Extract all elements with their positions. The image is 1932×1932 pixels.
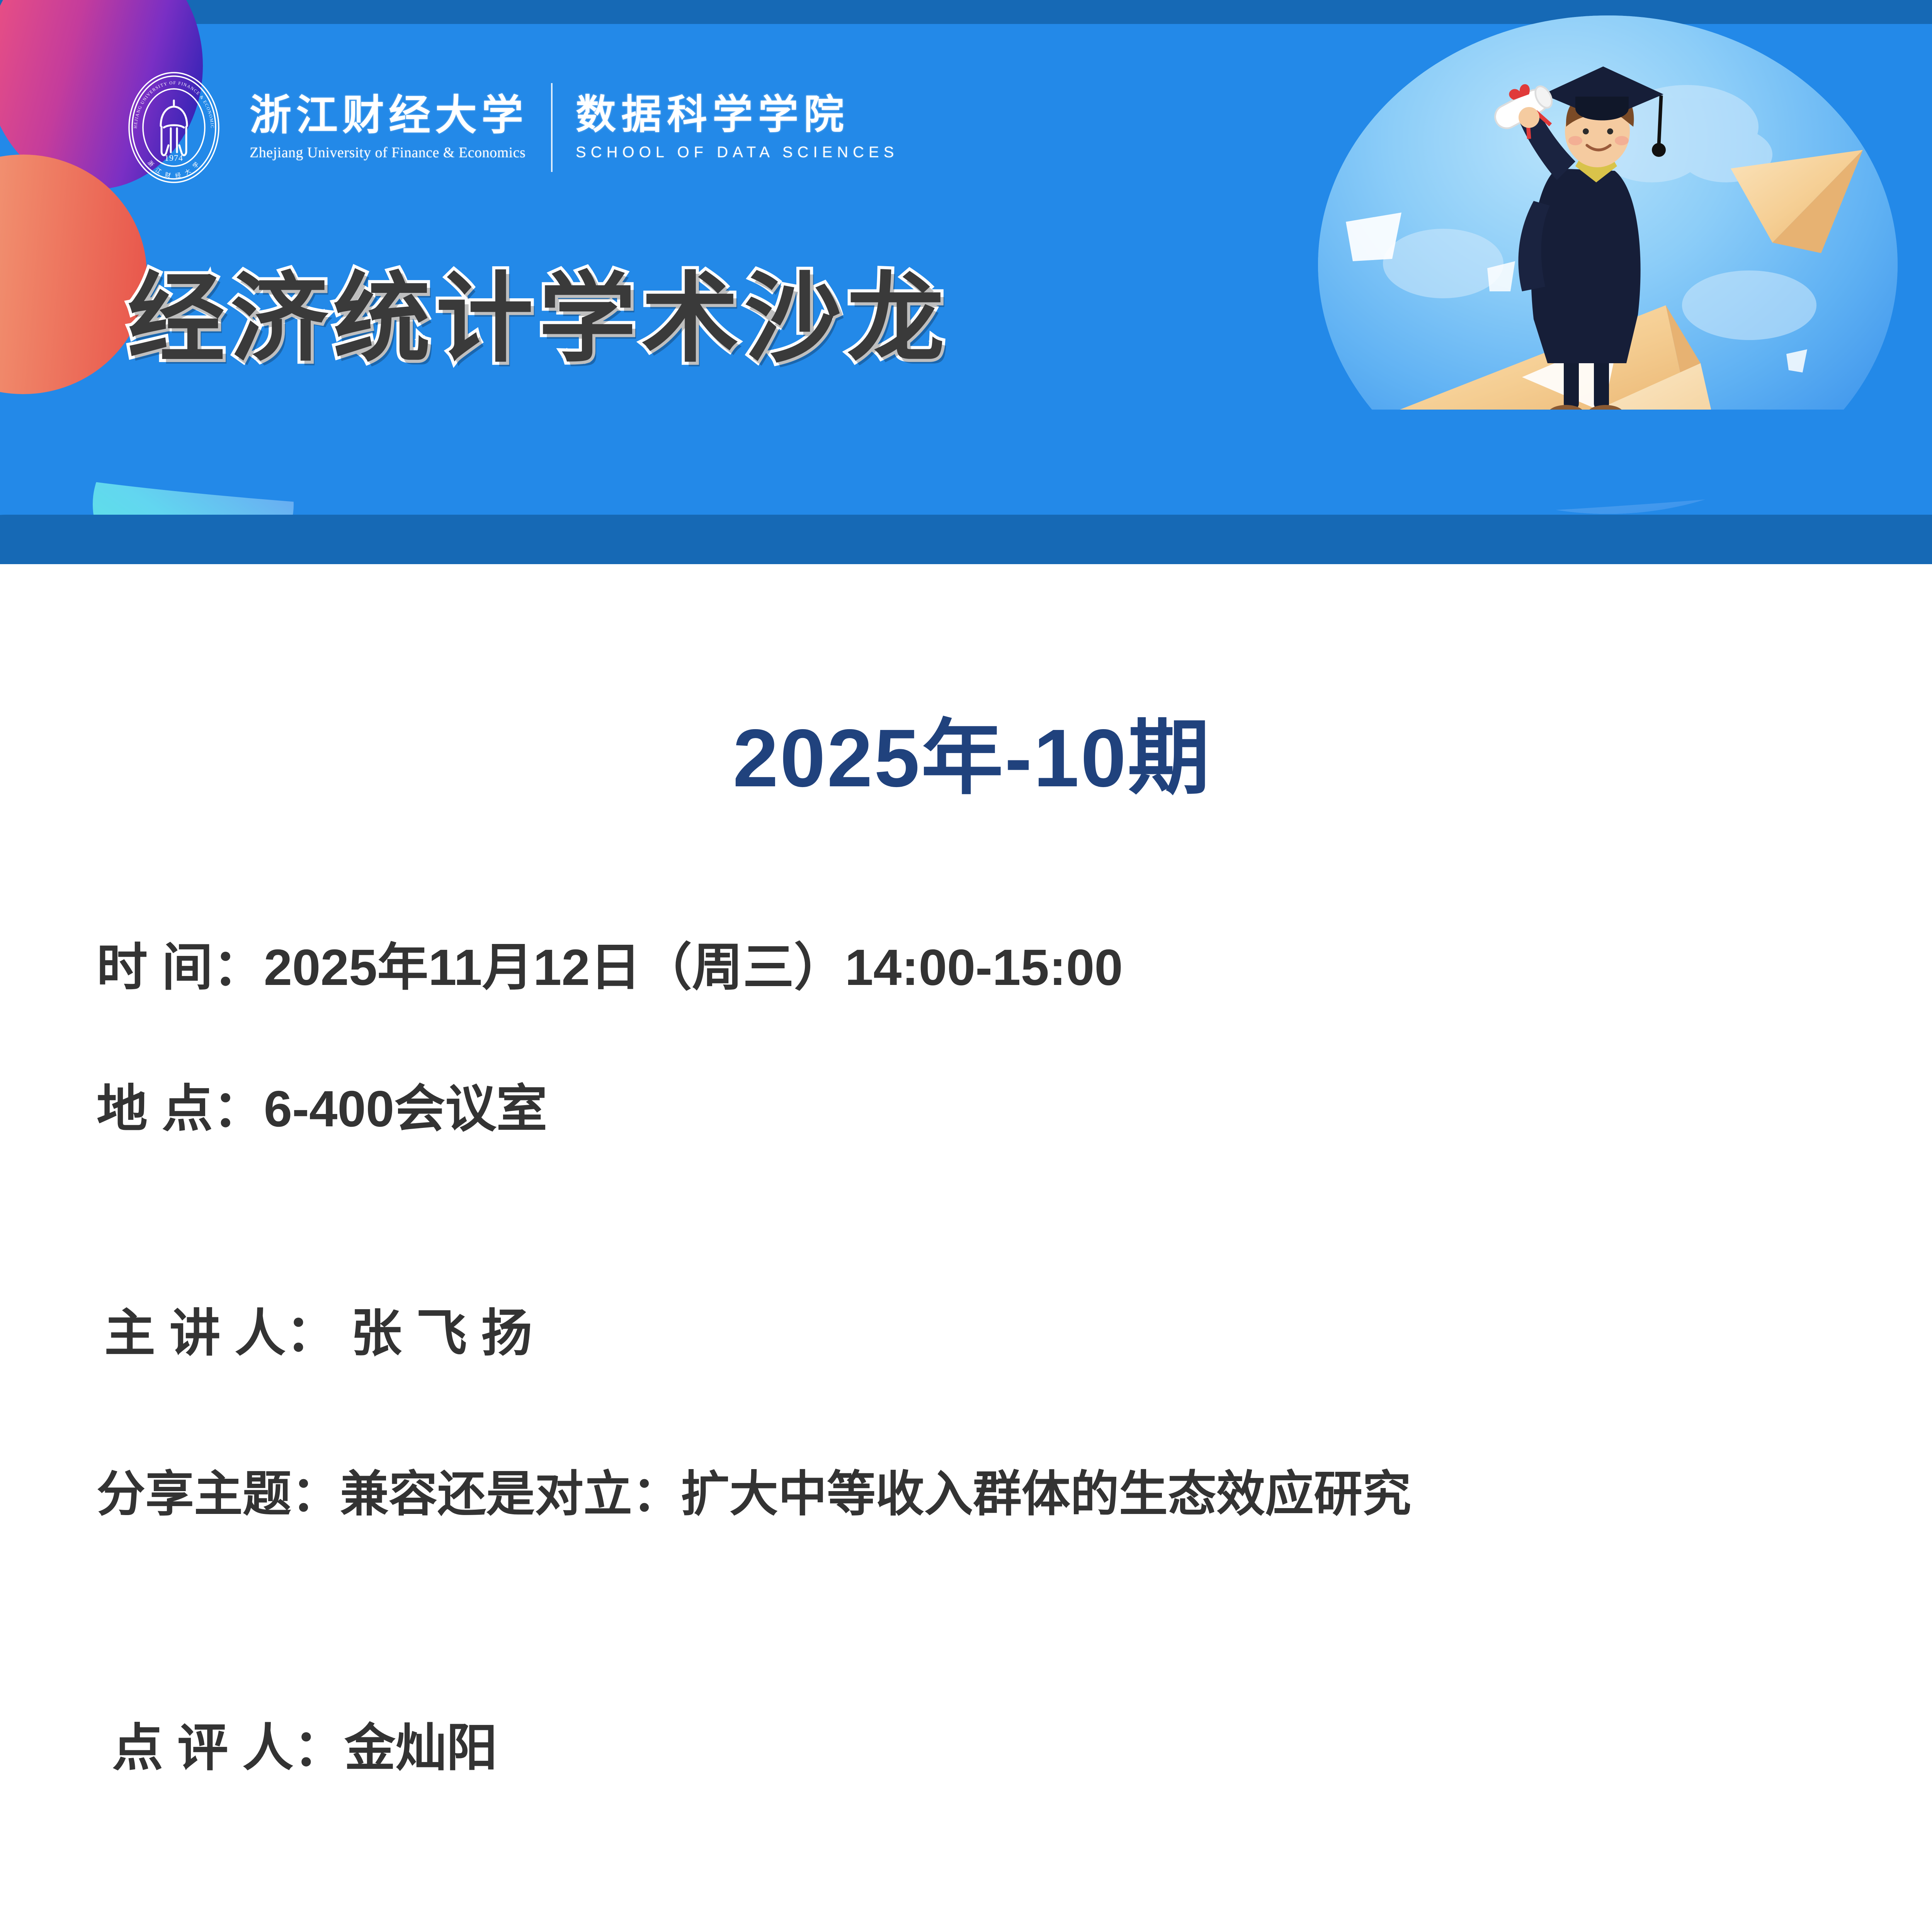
info-label-time: 时 间： [97,939,264,996]
reviewer-name: 金灿阳 [344,1719,497,1776]
reviewer-label: 点 评 人： [112,1719,344,1776]
header-banner: 1974 ZHEJIANG UNIVERSITY OF FINANCE & EC… [0,0,1932,564]
topic-row: 分享主题：兼容还是对立：扩大中等收入群体的生态效应研究 [0,1455,1932,1525]
info-value-location: 6-400会议室 [264,1080,548,1137]
lockup-divider [551,83,553,172]
info-label-location: 地 点： [97,1080,264,1137]
poster-body: 2025年-10期 时 间：2025年11月12日（周三）14:00-15:00… [0,564,1932,1932]
logo-lockup: 1974 ZHEJIANG UNIVERSITY OF FINANCE & EC… [116,70,898,185]
svg-text:ZHEJIANG UNIVERSITY OF FINANCE: ZHEJIANG UNIVERSITY OF FINANCE & ECONOMI… [116,70,214,129]
school-name-cn: 数据科学学院 [576,94,898,136]
info-row-time: 时 间：2025年11月12日（周三）14:00-15:00 [97,926,1932,1000]
university-name-block: 浙江财经大学 Zhejiang University of Finance & … [250,94,528,161]
info-row-location: 地 点：6-400会议室 [97,1068,1932,1141]
university-name-cn: 浙江财经大学 [250,94,528,138]
poster-title: 经济统计学术沙龙 [128,270,950,368]
issue-title: 2025年-10期 [0,692,1932,810]
topic-value: 兼容还是对立：扩大中等收入群体的生态效应研究 [340,1467,1411,1521]
speaker-row: 主 讲 人： 张 飞 扬 [0,1292,1932,1366]
info-value-time: 2025年11月12日（周三）14:00-15:00 [264,939,1123,996]
school-name-block: 数据科学学院 SCHOOL OF DATA SCIENCES [576,94,898,161]
decorative-blob-orange [0,155,147,394]
event-info-block: 时 间：2025年11月12日（周三）14:00-15:00 地 点：6-400… [0,926,1932,1141]
university-seal-icon: 1974 ZHEJIANG UNIVERSITY OF FINANCE & EC… [116,70,232,185]
speaker-label: 主 讲 人： [104,1305,351,1362]
school-name-en: SCHOOL OF DATA SCIENCES [576,144,898,161]
svg-text:1974: 1974 [165,153,183,163]
reviewer-row: 点 评 人：金灿阳 [0,1707,1932,1781]
banner-bottom-band [0,515,1932,564]
university-name-en: Zhejiang University of Finance & Economi… [250,144,528,161]
topic-label: 分享主题： [97,1467,340,1521]
speaker-name: 张 飞 扬 [351,1305,532,1362]
